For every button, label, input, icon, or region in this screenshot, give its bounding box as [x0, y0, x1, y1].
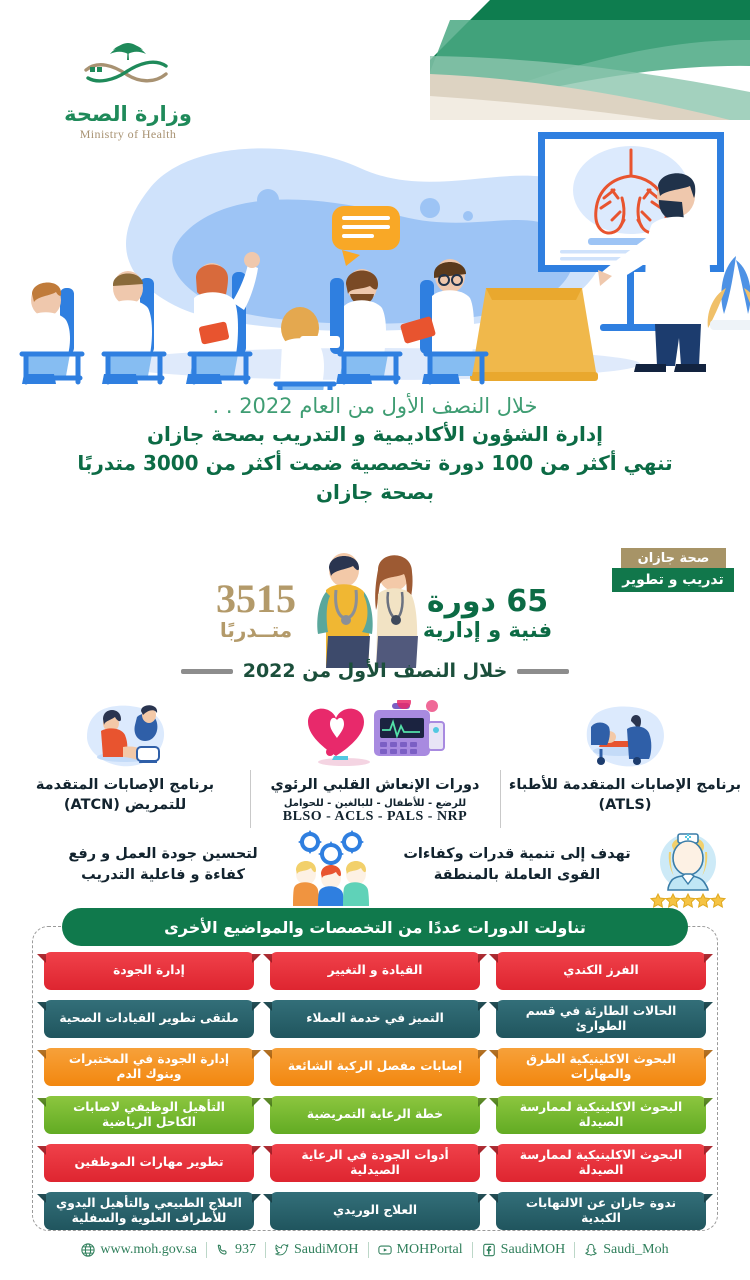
topic-tag[interactable]: العلاج الطبيعي والتأهيل اليدوي للأطراف ا… — [44, 1192, 254, 1230]
topic-tag[interactable]: البحوث الاكلينيكية الطرق والمهارات — [496, 1048, 706, 1086]
goal-text-right: تهدف إلى تنمية قدرات وكفاءات القوى العام… — [402, 844, 632, 886]
topics-tag-grid: الفرز الكنديالقيادة و التغييرإدارة الجود… — [44, 952, 706, 1230]
topic-tag-label: إصابات مفصل الركبة الشائعة — [288, 1059, 462, 1074]
footer-label: Saudi_Moh — [603, 1242, 668, 1258]
footer-label: SaudiMOH — [294, 1242, 359, 1258]
first-aid-leg-splint-icon — [6, 700, 244, 772]
snapchat-icon — [584, 1243, 598, 1257]
topic-tag-label: إدارة الجودة في المختبرات وبنوك الدم — [56, 1052, 242, 1083]
footer-item-facebook[interactable]: SaudiMOH — [473, 1242, 576, 1258]
topic-tag-label: ملتقى تطوير القيادات الصحية — [59, 1011, 238, 1026]
divider-dash-left — [517, 669, 569, 674]
logo-arabic-text: وزارة الصحة — [38, 102, 218, 126]
trainees-stat: 3515 متــدربًا — [186, 580, 326, 642]
topic-tag[interactable]: البحوث الاكلينيكية لممارسة الصيدلة — [496, 1096, 706, 1134]
topic-tag-label: البحوث الاكلينيكية لممارسة الصيدلة — [508, 1148, 694, 1179]
course-category-atls: برنامج الإصابات المتقدمة للأطباء (ATLS) — [500, 700, 750, 835]
course-title-0: برنامج الإصابات المتقدمة للأطباء (ATLS) — [506, 776, 744, 815]
statistics-section: 3515 متــدربًا 65 دورة فنية و إدارية — [0, 548, 750, 668]
topic-tag[interactable]: إدارة الجودة في المختبرات وبنوك الدم — [44, 1048, 254, 1086]
course-title-2: برنامج الإصابات المتقدمة للتمريض (ATCN) — [6, 776, 244, 815]
course-category-cpr: دورات الإنعاش القلبي الرئوي للرضع - للأط… — [250, 700, 500, 835]
period-divider: خلال النصف الأول من 2022 — [0, 660, 750, 682]
topic-tag-label: البحوث الاكلينيكية لممارسة الصيدلة — [508, 1100, 694, 1131]
topic-tag[interactable]: البحوث الاكلينيكية لممارسة الصيدلة — [496, 1144, 706, 1182]
youtube-icon — [378, 1243, 392, 1257]
period-text: خلال النصف الأول من 2022 — [243, 660, 508, 682]
course-sub-1: للرضع - للأطفال - للبالغين - للحوامل — [256, 798, 494, 809]
defibrillator-heart-icon — [256, 700, 494, 772]
topic-tag-label: خطة الرعاية التمريضية — [307, 1107, 443, 1122]
globe-icon — [81, 1243, 95, 1257]
topic-tag-label: البحوث الاكلينيكية الطرق والمهارات — [508, 1052, 694, 1083]
phone-icon — [216, 1243, 230, 1257]
footer-item-youtube[interactable]: MOHPortal — [369, 1242, 473, 1258]
topic-tag[interactable]: العلاج الوريدي — [270, 1192, 480, 1230]
courses-stat: 65 دورة فنية و إدارية — [400, 586, 575, 642]
trauma-stretcher-icon — [506, 700, 744, 772]
footer-label: MOHPortal — [397, 1242, 463, 1258]
topics-banner: تناولت الدورات عددًا من التخصصات والمواض… — [62, 908, 688, 946]
topic-tag[interactable]: التأهيل الوظيفي لاصابات الكاحل الرياضية — [44, 1096, 254, 1134]
topic-tag-label: العلاج الطبيعي والتأهيل اليدوي للأطراف ا… — [56, 1196, 242, 1227]
footer-item-twitter[interactable]: SaudiMOH — [266, 1242, 369, 1258]
topic-tag-label: ندوة جازان عن الالتهابات الكبدية — [508, 1196, 694, 1227]
footer-label: SaudiMOH — [501, 1242, 566, 1258]
corner-decoration — [430, 0, 750, 120]
courses-number: 65 دورة — [400, 586, 575, 618]
footer-item-globe[interactable]: www.moh.gov.sa — [72, 1242, 207, 1258]
topic-tag[interactable]: أدوات الجودة في الرعاية الصيدلية — [270, 1144, 480, 1182]
trainees-label: متــدربًا — [186, 618, 326, 642]
topic-tag-label: إدارة الجودة — [113, 963, 185, 978]
topic-tag[interactable]: ملتقى تطوير القيادات الصحية — [44, 1000, 254, 1038]
topic-tag-label: أدوات الجودة في الرعاية الصيدلية — [282, 1148, 468, 1179]
title-line-1: خلال النصف الأول من العام 2022 . . — [24, 392, 726, 420]
footer-item-snapchat[interactable]: Saudi_Moh — [575, 1242, 677, 1258]
hero-illustration — [0, 128, 750, 390]
footer-item-phone[interactable]: 937 — [207, 1242, 266, 1258]
course-title-1: دورات الإنعاش القلبي الرئوي — [256, 776, 494, 796]
course-category-atcn: برنامج الإصابات المتقدمة للتمريض (ATCN) — [0, 700, 250, 835]
footer-label: 937 — [235, 1242, 256, 1258]
moh-logo: وزارة الصحة Ministry of Health — [38, 40, 218, 142]
title-line-3: تنهي أكثر من 100 دورة تخصصية ضمت أكثر من… — [24, 449, 726, 478]
topic-tag[interactable]: إدارة الجودة — [44, 952, 254, 990]
topic-tag-label: الفرز الكندي — [563, 963, 638, 978]
topic-tag-label: الحالات الطارئة في قسم الطوارئ — [508, 1004, 694, 1035]
saudi-palm-swords-emblem — [68, 40, 188, 98]
topic-tag-label: القيادة و التغيير — [328, 963, 423, 978]
trainees-number: 3515 — [186, 580, 326, 618]
topic-tag[interactable]: تطوير مهارات الموظفين — [44, 1144, 254, 1182]
topic-tag[interactable]: ندوة جازان عن الالتهابات الكبدية — [496, 1192, 706, 1230]
title-line-2: إدارة الشؤون الأكاديمية و التدريب بصحة ج… — [24, 420, 726, 449]
topic-tag-label: التميز في خدمة العملاء — [306, 1011, 444, 1026]
topic-tag[interactable]: إصابات مفصل الركبة الشائعة — [270, 1048, 480, 1086]
topic-tag-label: العلاج الوريدي — [333, 1203, 417, 1218]
goal-text-left: لتحسين جودة العمل و رفع كفاءة و فاعلية ا… — [48, 844, 278, 886]
facebook-icon — [482, 1243, 496, 1257]
footer-contacts: www.moh.gov.sa937SaudiMOHMOHPortalSaudiM… — [0, 1242, 750, 1258]
team-gears-icon — [286, 828, 376, 908]
footer-label: www.moh.gov.sa — [100, 1242, 197, 1258]
topic-tag[interactable]: الحالات الطارئة في قسم الطوارئ — [496, 1000, 706, 1038]
divider-dash-right — [181, 669, 233, 674]
course-abbr-1: BLSO - ACLS - PALS - NRP — [256, 809, 494, 825]
nurse-avatar-stars-icon — [638, 830, 738, 910]
topic-tag[interactable]: القيادة و التغيير — [270, 952, 480, 990]
topic-tag-label: التأهيل الوظيفي لاصابات الكاحل الرياضية — [56, 1100, 242, 1131]
twitter-icon — [275, 1243, 289, 1257]
topics-banner-text: تناولت الدورات عددًا من التخصصات والمواض… — [164, 918, 586, 937]
topic-tag[interactable]: الفرز الكندي — [496, 952, 706, 990]
course-categories: برنامج الإصابات المتقدمة للأطباء (ATLS) — [0, 700, 750, 835]
goals-section: تهدف إلى تنمية قدرات وكفاءات القوى العام… — [0, 836, 750, 908]
topic-tag[interactable]: خطة الرعاية التمريضية — [270, 1096, 480, 1134]
page-title: خلال النصف الأول من العام 2022 . . إدارة… — [0, 392, 750, 507]
courses-label: فنية و إدارية — [400, 618, 575, 642]
topic-tag-label: تطوير مهارات الموظفين — [74, 1155, 223, 1170]
topic-tag[interactable]: التميز في خدمة العملاء — [270, 1000, 480, 1038]
title-line-4: بصحة جازان — [24, 478, 726, 507]
